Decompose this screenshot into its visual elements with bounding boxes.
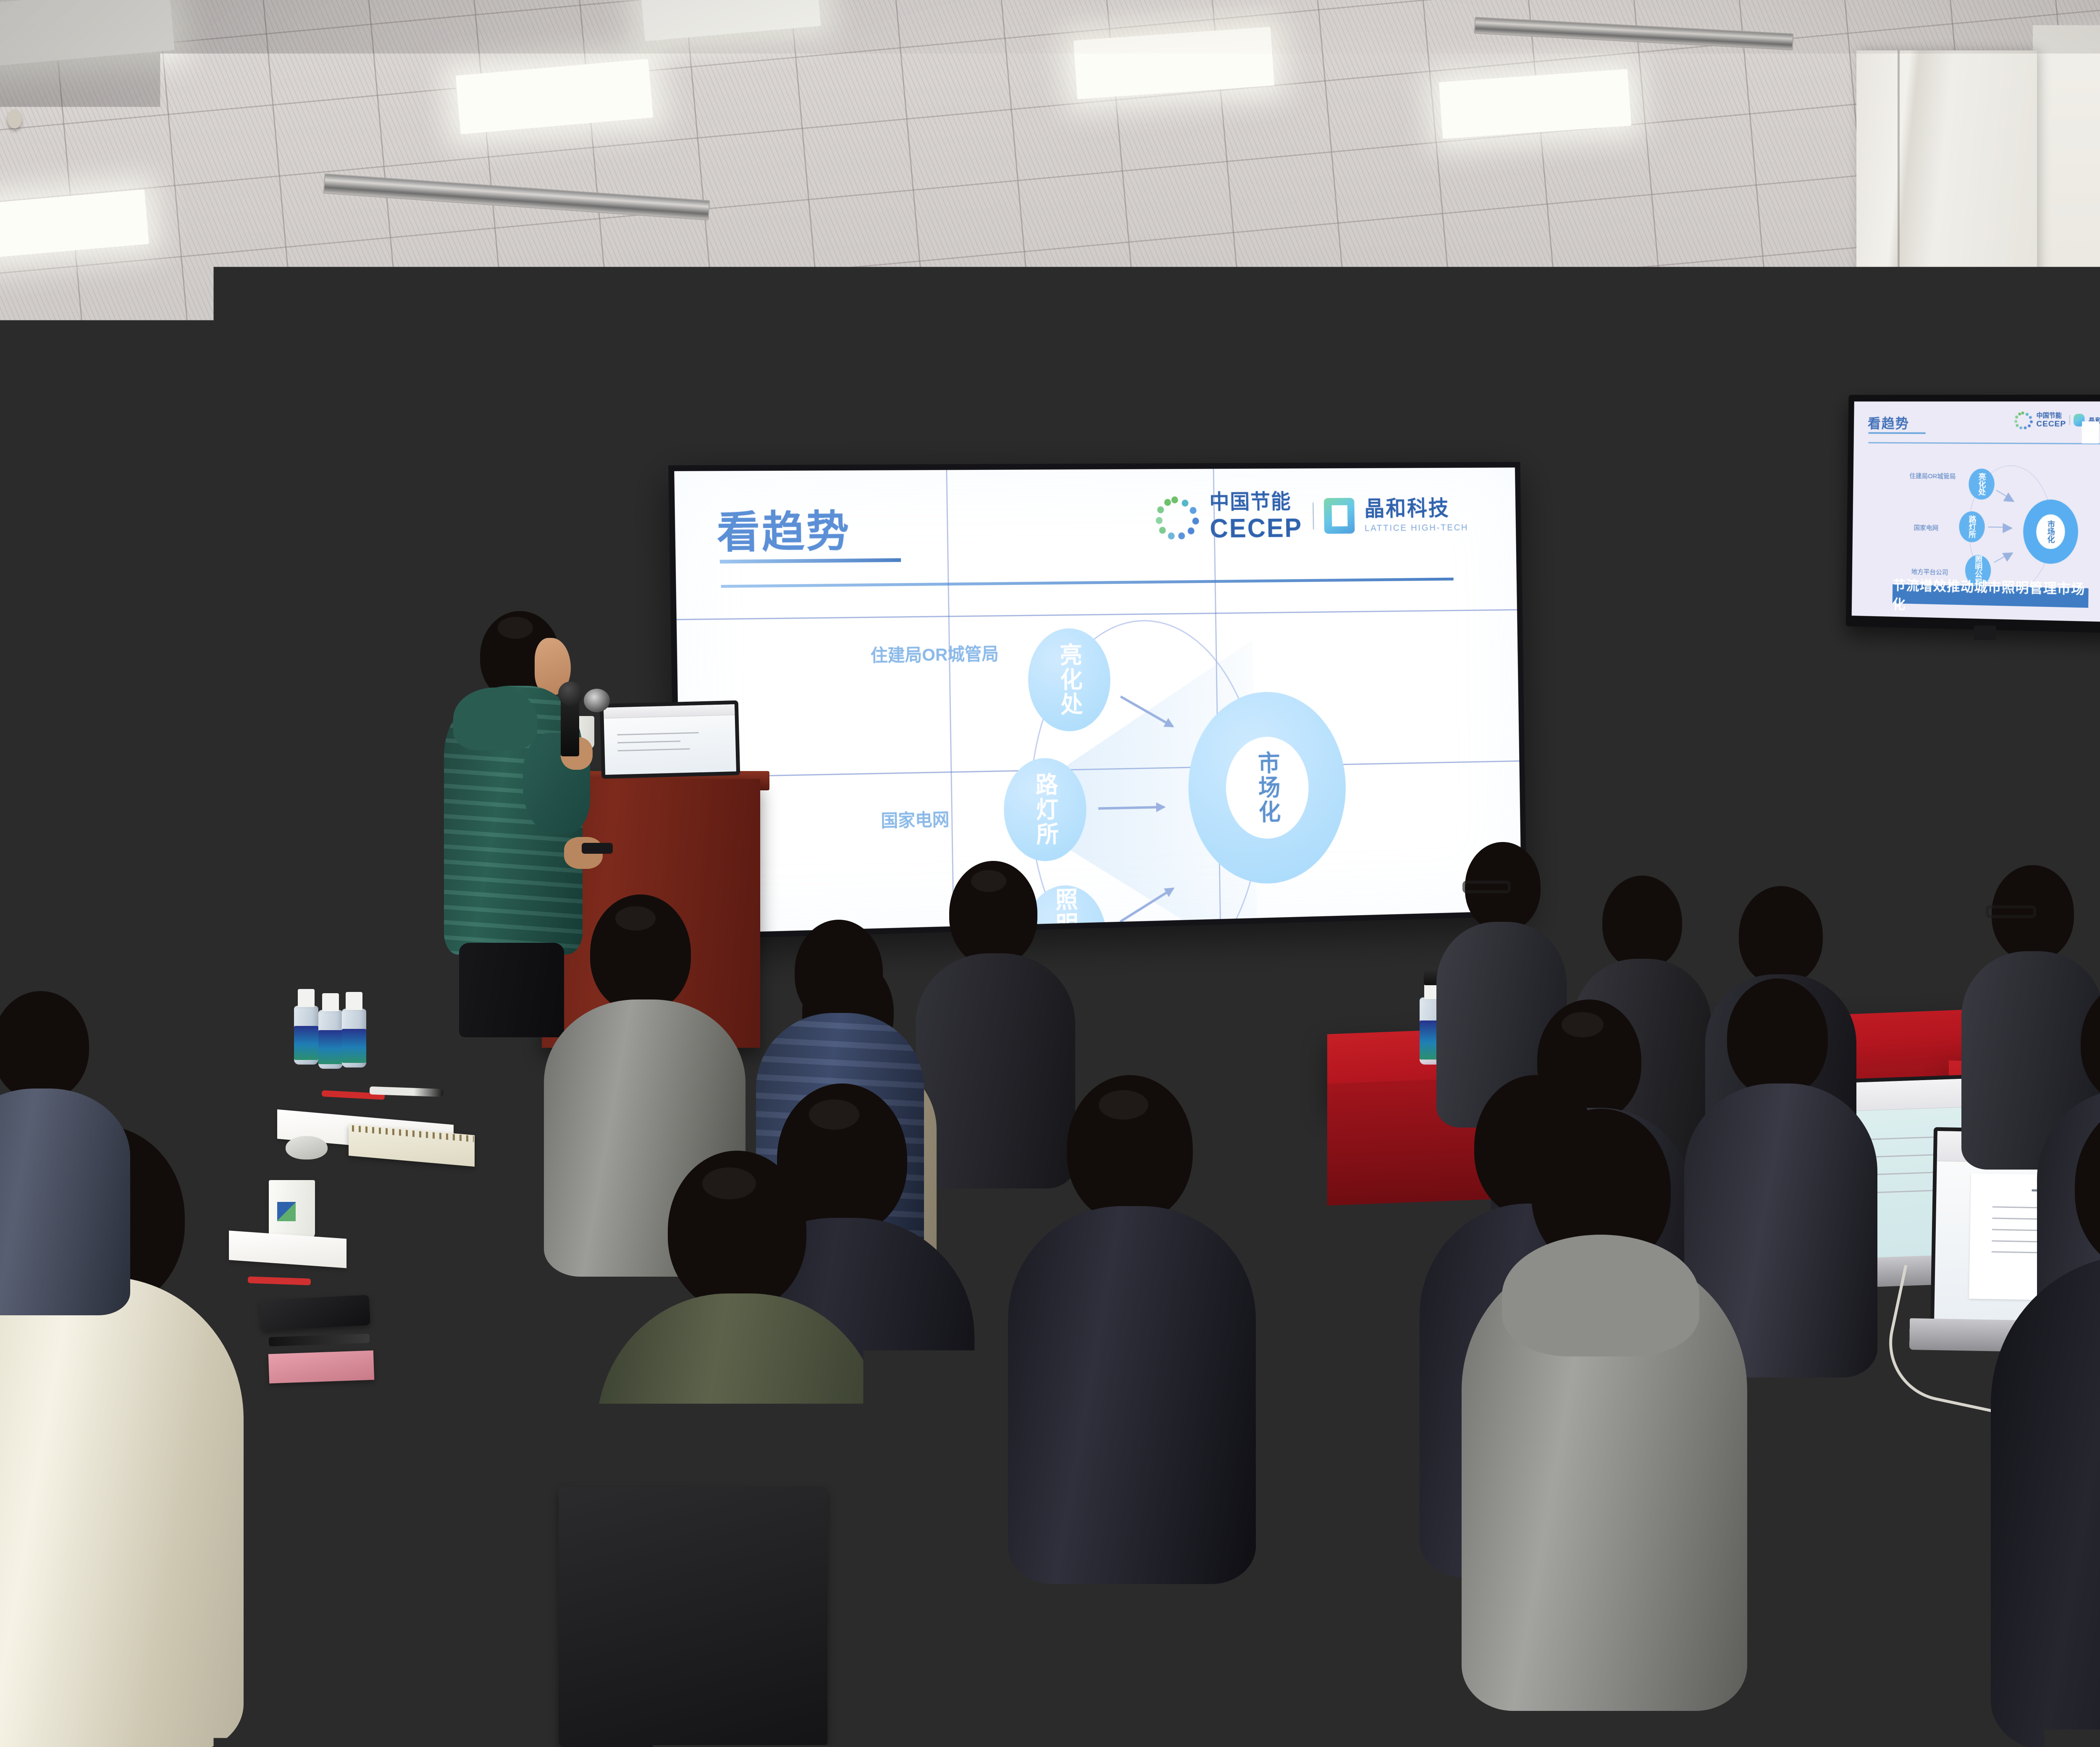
- tv-logo-group: 中国节能 CECEP 晶和科技: [2014, 411, 2100, 429]
- cecep-en-label: CECEP: [1210, 515, 1303, 542]
- tv-mount-stem: [1974, 626, 1996, 640]
- attendee: [596, 1151, 882, 1747]
- tv-source-label: 国家电网: [1914, 523, 1938, 532]
- paper-cup-logo: [277, 1202, 296, 1221]
- lattice-cn-label: 晶和科技: [1364, 498, 1468, 520]
- tv-banner: 节流增效推动城市照明管理市场化: [1893, 584, 2089, 608]
- slide-logos: 中国节能 CECEP 晶和科技 LATTICE HIGH-TECH: [1155, 491, 1469, 542]
- header-rule: [721, 577, 1454, 588]
- paper-sheet: [407, 1388, 626, 1475]
- tv-header-rule: [1868, 442, 2100, 445]
- tv-title-underline: [1869, 432, 1926, 434]
- hood: [1502, 1235, 1699, 1356]
- logo-divider: [1312, 503, 1314, 530]
- video-wall-display[interactable]: 看趋势: [668, 462, 1527, 940]
- tv-cecep-en: CECEP: [2036, 420, 2066, 429]
- cecep-logo-icon: [1155, 496, 1200, 538]
- glasses-icon: [1462, 881, 1511, 893]
- presentation-clicker[interactable]: [582, 843, 613, 854]
- computer-mouse[interactable]: [286, 1136, 328, 1159]
- tv-source-label: 住建局OR城管局: [1909, 471, 1956, 480]
- pink-notebook: [268, 1351, 374, 1384]
- water-bottle: [318, 993, 343, 1069]
- orange-wood-wall-left: [0, 337, 500, 999]
- videowall-seam: [946, 470, 954, 926]
- lattice-logo-icon: [2074, 414, 2085, 426]
- lattice-en-label: LATTICE HIGH-TECH: [1365, 523, 1468, 532]
- tv-target-node: 市场化: [2023, 499, 2079, 564]
- sprinkler-head-icon: [8, 109, 22, 129]
- attendee: [1109, 1344, 1453, 1747]
- water-bottle: [342, 992, 366, 1068]
- presenter-hood: [453, 687, 537, 750]
- cecep-cn-label: 中国节能: [1209, 491, 1302, 512]
- attendee: [1462, 1109, 1747, 1709]
- microphone-head-icon: [558, 682, 583, 706]
- cecep-logo-icon: [2014, 412, 2022, 418]
- attendee: [0, 991, 130, 1310]
- target-node-label: 市场化: [1255, 751, 1280, 825]
- tv-target-label: 市场化: [2047, 520, 2055, 543]
- podium-laptop[interactable]: [600, 700, 740, 779]
- videowall-seam: [677, 609, 1517, 620]
- source-label: 国家电网: [881, 805, 950, 832]
- jacket-brand-text: [1193, 1012, 1285, 1026]
- glasses-icon: [1986, 905, 2036, 918]
- lattice-logo-icon: [1323, 498, 1354, 534]
- tv-target-hole: 市场化: [2036, 514, 2065, 549]
- held-paper-cup: [1294, 1457, 1361, 1533]
- tv-cecep-cn: 中国节能: [2036, 411, 2066, 420]
- presentation-slide: 看趋势: [674, 467, 1521, 934]
- wall-mounted-tv[interactable]: 看趋势 中国节能 CECEP 晶和科技: [1846, 395, 2100, 634]
- slide-title: 看趋势: [716, 496, 851, 560]
- tv-slide-title: 看趋势: [1868, 413, 1909, 433]
- conference-room-scene: 看趋势: [0, 0, 2100, 1747]
- source-label: 住建局OR城管局: [870, 640, 999, 667]
- smartphone[interactable]: [260, 1295, 370, 1331]
- attendee: [1991, 1100, 2100, 1747]
- water-bottle: [294, 989, 318, 1065]
- target-node-label-wrap: 市场化: [1225, 736, 1309, 840]
- attendee-cream-jacket: [0, 1277, 244, 1747]
- attendee-olive-jacket: [596, 1293, 882, 1747]
